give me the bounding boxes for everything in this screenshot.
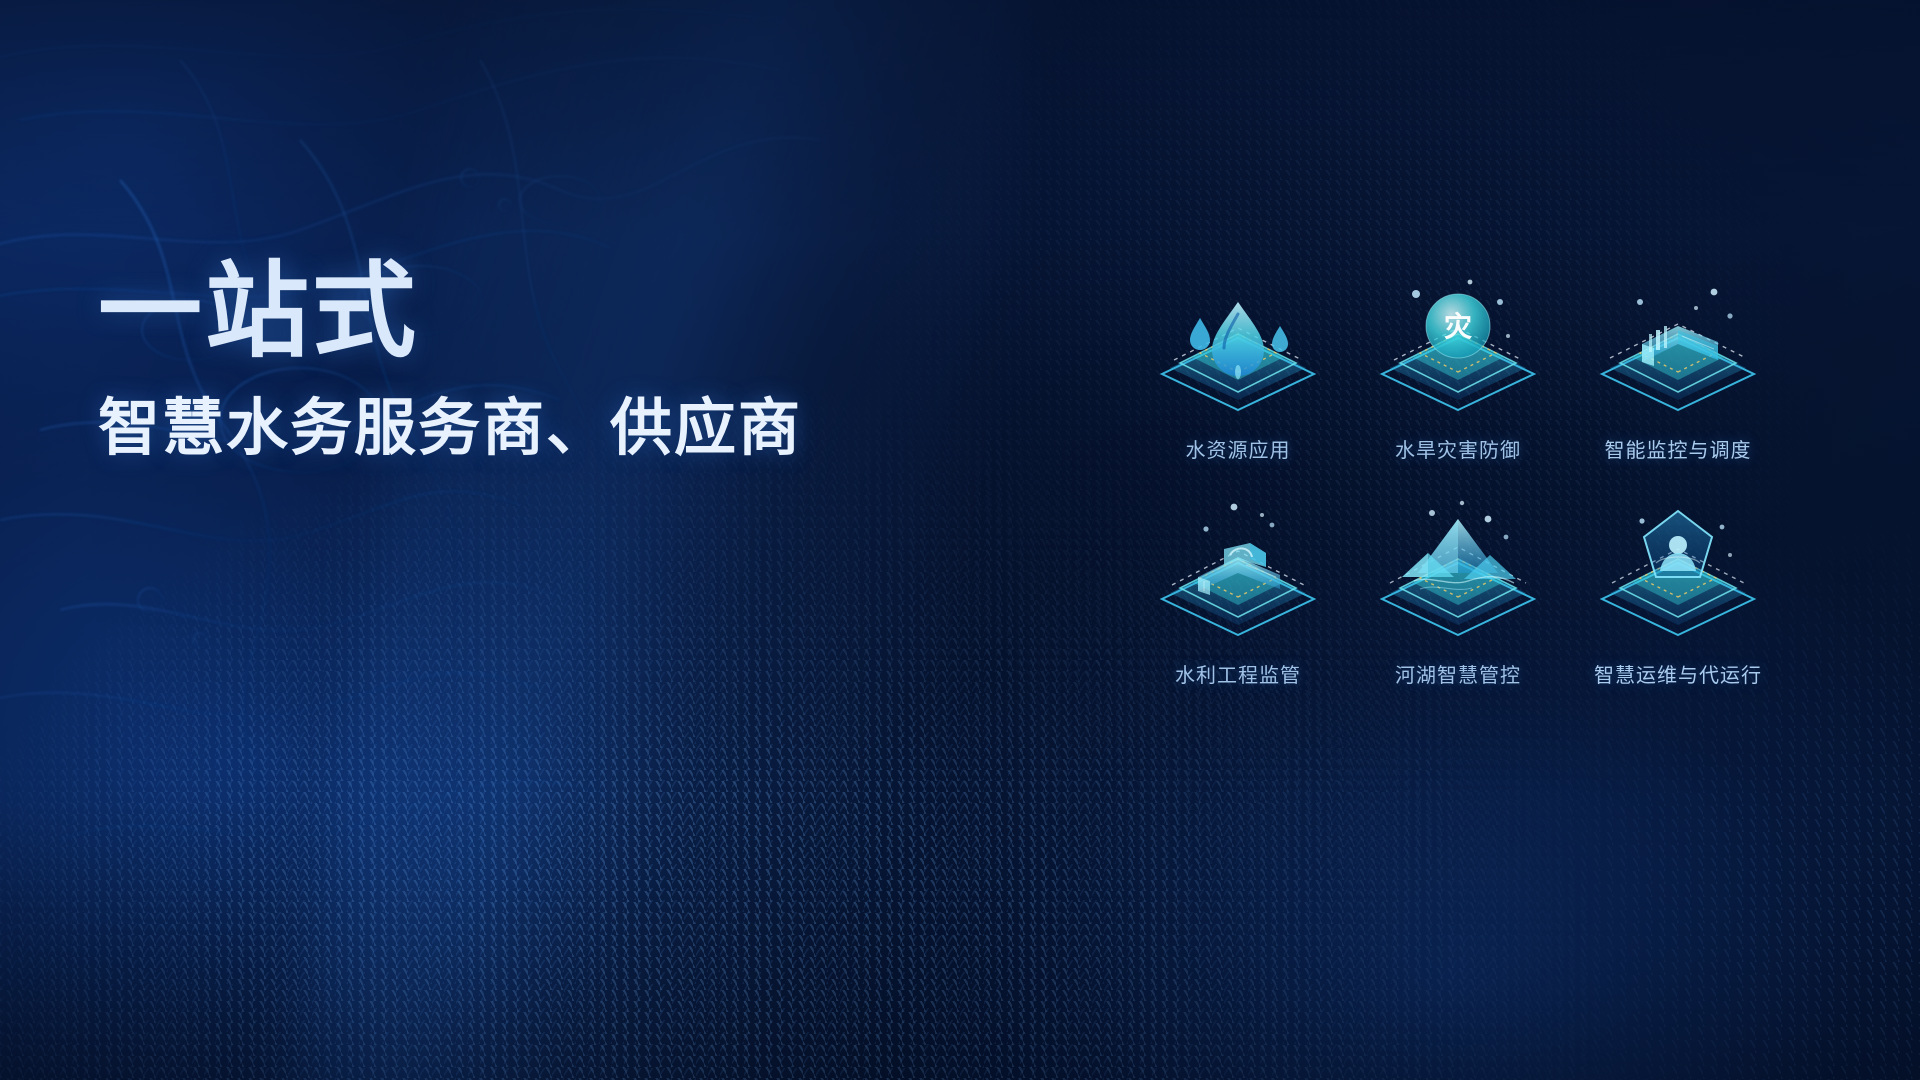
service-label: 智能监控与调度 xyxy=(1605,434,1752,463)
disaster-glyph: 灾 xyxy=(1444,310,1472,342)
headline-block: 一站式 智慧水务服务商、供应商 xyxy=(98,258,858,464)
service-item-river-lake-smart-control[interactable]: 河湖智慧管控 xyxy=(1355,493,1561,718)
water-drop-icon xyxy=(1138,268,1338,428)
shield-operator-icon xyxy=(1578,493,1778,653)
service-label: 水旱灾害防御 xyxy=(1395,434,1521,463)
service-item-smart-monitoring-dispatch[interactable]: 智能监控与调度 xyxy=(1575,268,1781,493)
service-icon-grid: 水资源应用 xyxy=(1135,268,1781,718)
service-item-smart-ops-delegated-operation[interactable]: 智慧运维与代运行 xyxy=(1575,493,1781,718)
disaster-sphere-icon: 灾 xyxy=(1358,268,1558,428)
service-label: 河湖智慧管控 xyxy=(1395,659,1521,688)
service-item-water-resource[interactable]: 水资源应用 xyxy=(1135,268,1341,493)
service-item-hydraulic-engineering-supervision[interactable]: 水利工程监管 xyxy=(1135,493,1341,718)
mountain-river-icon xyxy=(1358,493,1558,653)
page-title: 一站式 xyxy=(98,258,858,367)
service-item-flood-drought-defense[interactable]: 灾 水旱灾害防御 xyxy=(1355,268,1561,493)
banner-stage: 一站式 智慧水务服务商、供应商 xyxy=(0,0,1920,1080)
engineering-building-icon xyxy=(1138,493,1338,653)
dam-reservoir-icon xyxy=(1578,268,1778,428)
page-subtitle: 智慧水务服务商、供应商 xyxy=(98,393,858,464)
service-label: 智慧运维与代运行 xyxy=(1594,659,1762,688)
service-label: 水资源应用 xyxy=(1186,434,1291,463)
service-label: 水利工程监管 xyxy=(1175,659,1301,688)
